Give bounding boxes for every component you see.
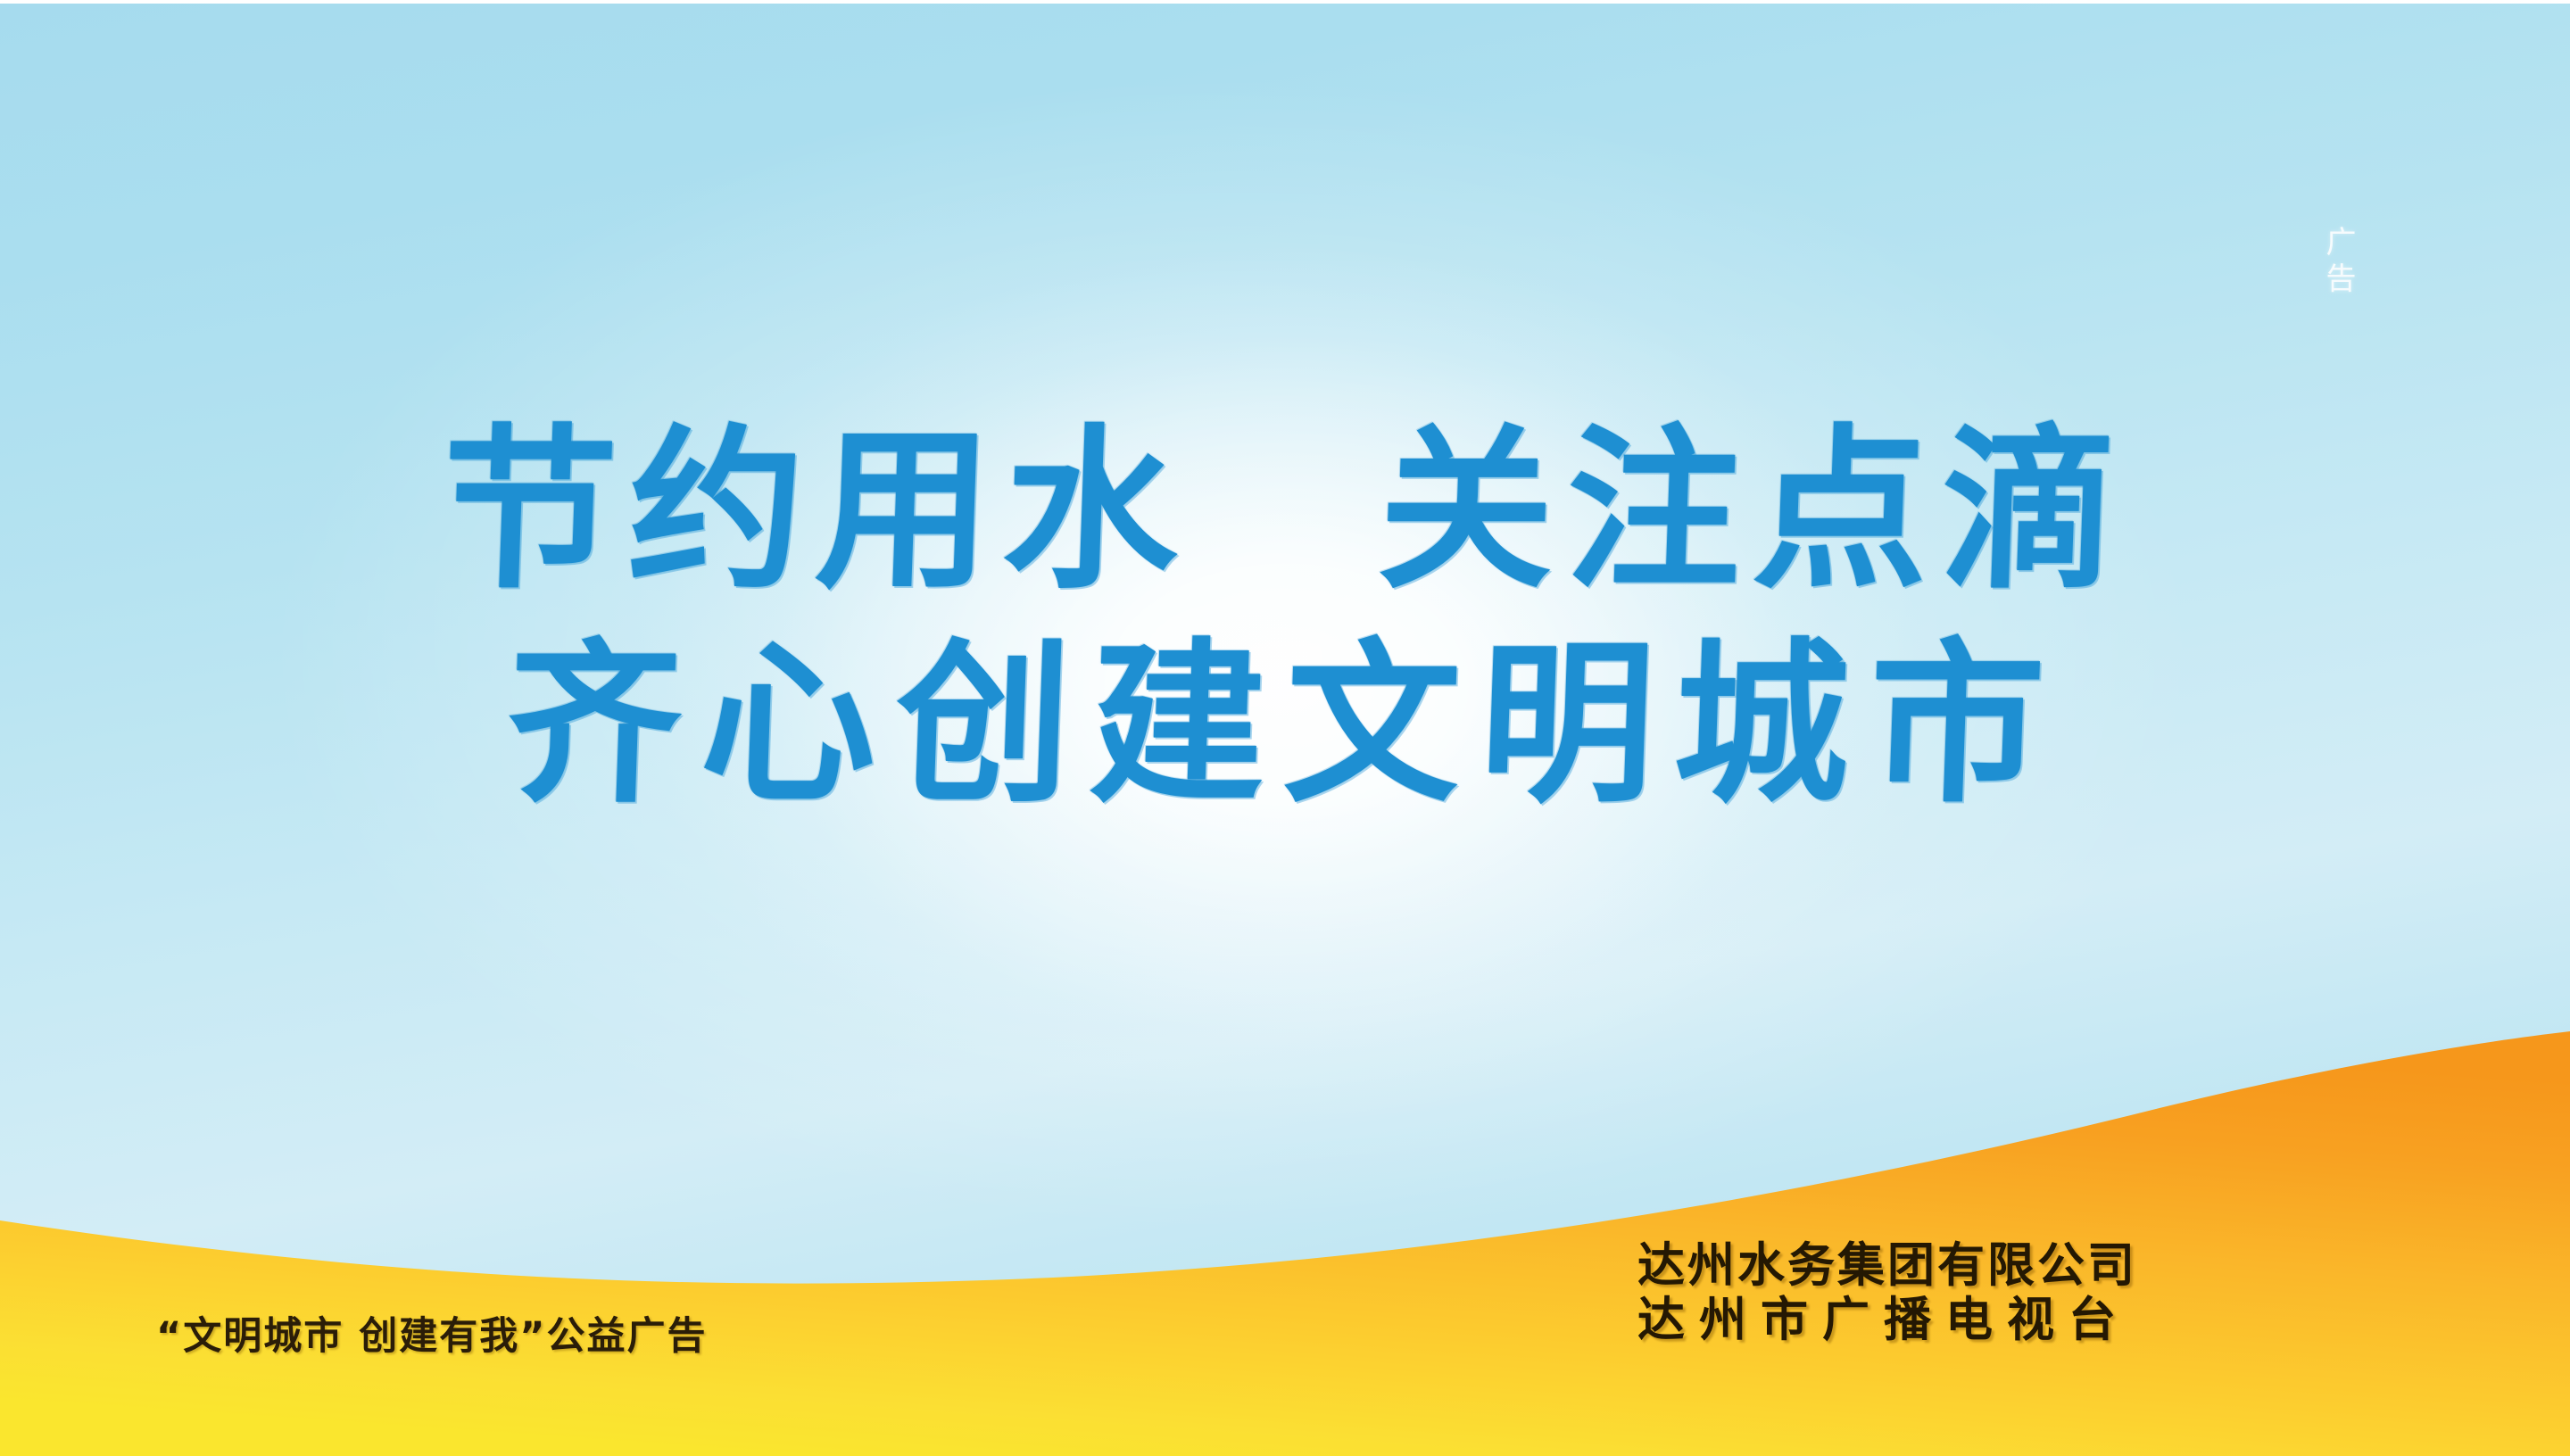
headline-line-1-part-b: 关注点滴 <box>1375 409 2132 613</box>
headline-line-1-part-a: 节约用水 <box>438 409 1195 613</box>
advertisement-watermark-char-1: 广 <box>2317 225 2367 261</box>
footer-band-shape <box>0 1010 2570 1456</box>
footer-band-path <box>0 1031 2570 1456</box>
top-white-hairline <box>0 0 2570 4</box>
footer-band <box>0 1010 2570 1456</box>
sponsor-block: 达州水务集团有限公司 达州市广播电视台 <box>1637 1238 2137 1348</box>
public-service-ad-poster: 广 告 节约用水 关注点滴 齐心创建文明城市 <box>0 0 2570 1456</box>
advertisement-watermark: 广 告 <box>2317 225 2367 299</box>
sponsor-line-1: 达州水务集团有限公司 <box>1637 1238 2137 1293</box>
headline-line-1: 节约用水 关注点滴 <box>0 418 2570 607</box>
headline-line-2: 齐心创建文明城市 <box>0 632 2570 821</box>
advertisement-watermark-char-2: 告 <box>2317 261 2367 298</box>
headline-block: 节约用水 关注点滴 齐心创建文明城市 <box>0 418 2570 820</box>
campaign-slogan-text: “文明城市 创建有我”公益广告 <box>156 1305 708 1361</box>
sponsor-line-2: 达州市广播电视台 <box>1637 1293 2137 1347</box>
